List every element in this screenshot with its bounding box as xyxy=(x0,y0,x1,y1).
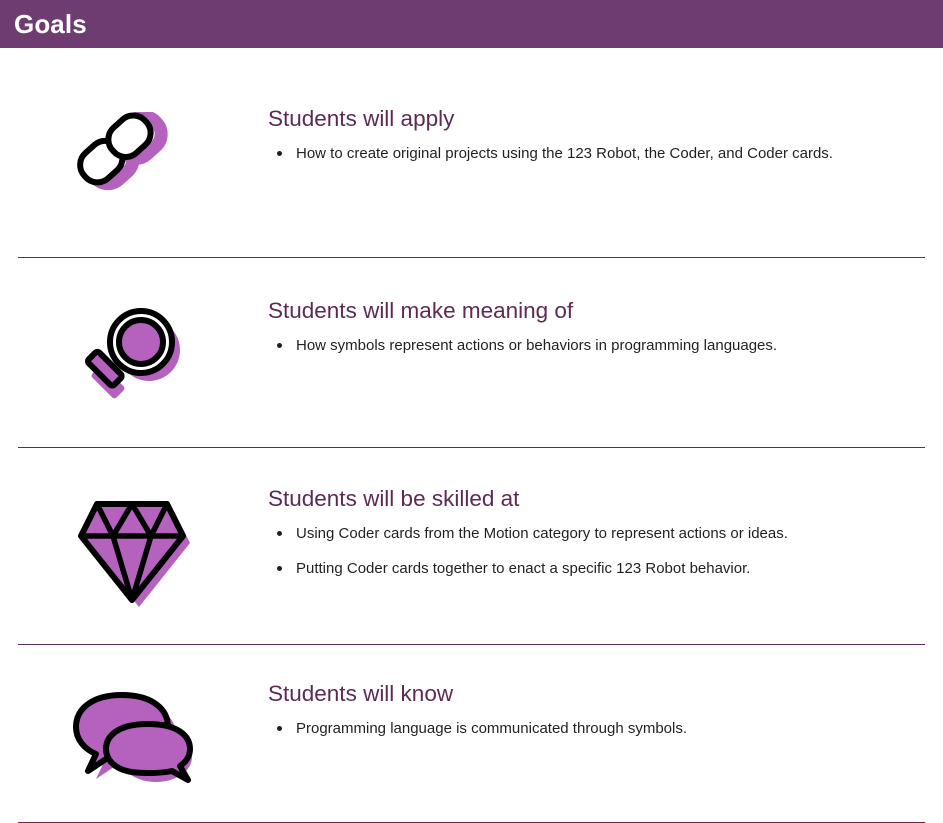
goal-bullet-list: Using Coder cards from the Motion catego… xyxy=(268,522,883,582)
goal-section-know: Students will know Programming language … xyxy=(0,645,943,822)
speech-bubbles-icon xyxy=(70,687,198,787)
goal-bullet-text: Using Coder cards from the Motion catego… xyxy=(296,525,788,542)
goal-bullet-list: How to create original projects using th… xyxy=(268,142,883,166)
goal-bullet-item: Programming language is communicated thr… xyxy=(268,717,883,741)
goal-section-make-meaning-of: Students will make meaning of How symbol… xyxy=(0,258,943,447)
bullet-dot-icon xyxy=(277,566,282,571)
goal-bullet-text: How to create original projects using th… xyxy=(296,145,833,162)
diamond-gem-icon xyxy=(71,492,197,610)
page-title: Goals xyxy=(14,11,87,37)
goal-icon-cell xyxy=(0,106,268,217)
goal-bullet-item: Putting Coder cards together to enact a … xyxy=(268,557,883,581)
goal-bullet-item: Using Coder cards from the Motion catego… xyxy=(268,522,883,546)
bullet-dot-icon xyxy=(277,531,282,536)
goal-text-cell: Students will apply How to create origin… xyxy=(268,106,943,166)
goal-icon-cell xyxy=(0,298,268,409)
goal-heading: Students will be skilled at xyxy=(268,486,883,513)
magnifying-glass-icon xyxy=(75,304,193,409)
goal-heading: Students will make meaning of xyxy=(268,298,883,325)
goal-bullet-list: How symbols represent actions or behavio… xyxy=(268,334,883,358)
goal-section-apply: Students will apply How to create origin… xyxy=(0,62,943,257)
goal-icon-cell xyxy=(0,681,268,787)
goal-text-cell: Students will be skilled at Using Coder … xyxy=(268,486,943,581)
bullet-dot-icon xyxy=(277,343,282,348)
bullet-dot-icon xyxy=(277,151,282,156)
goal-bullet-text: How symbols represent actions or behavio… xyxy=(296,337,777,354)
goal-text-cell: Students will make meaning of How symbol… xyxy=(268,298,943,358)
goal-bullet-list: Programming language is communicated thr… xyxy=(268,717,883,741)
bullet-dot-icon xyxy=(277,726,282,731)
goals-header-bar: Goals xyxy=(0,0,943,48)
goal-bullet-text: Programming language is communicated thr… xyxy=(296,720,687,737)
goal-section-be-skilled-at: Students will be skilled at Using Coder … xyxy=(0,448,943,644)
goal-heading: Students will apply xyxy=(268,106,883,133)
goals-body: Students will apply How to create origin… xyxy=(0,48,943,823)
goal-text-cell: Students will know Programming language … xyxy=(268,681,943,741)
goal-heading: Students will know xyxy=(268,681,883,708)
goal-icon-cell xyxy=(0,486,268,610)
goal-bullet-item: How to create original projects using th… xyxy=(268,142,883,166)
goal-bullet-item: How symbols represent actions or behavio… xyxy=(268,334,883,358)
goal-bullet-text: Putting Coder cards together to enact a … xyxy=(296,560,750,577)
chain-link-icon xyxy=(75,112,193,217)
